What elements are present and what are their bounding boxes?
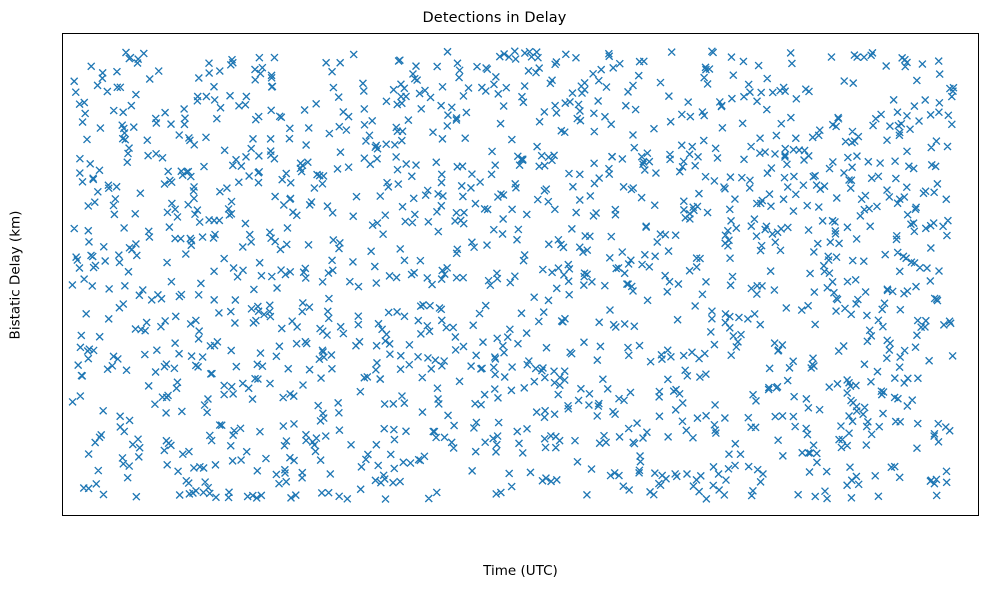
x-axis-tick bbox=[155, 515, 156, 516]
x-axis-tick bbox=[338, 515, 339, 516]
scatter-marker-path bbox=[69, 48, 957, 503]
y-axis-tick bbox=[62, 353, 63, 354]
scatter-points-layer bbox=[63, 34, 978, 515]
x-axis-tick bbox=[705, 515, 706, 516]
scatter-series bbox=[69, 48, 957, 503]
y-axis-tick bbox=[62, 428, 63, 429]
plot-area: 01020304050602025-02-23 14:59:002025-02-… bbox=[62, 33, 979, 516]
x-axis-label: Time (UTC) bbox=[62, 563, 979, 579]
y-axis-tick bbox=[62, 278, 63, 279]
y-axis-label: Bistatic Delay (km) bbox=[6, 33, 24, 516]
y-axis-tick bbox=[62, 203, 63, 204]
y-axis-label-text: Bistatic Delay (km) bbox=[7, 210, 23, 339]
x-axis-tick bbox=[522, 515, 523, 516]
x-axis-tick bbox=[888, 515, 889, 516]
page-title: Detections in Delay bbox=[0, 10, 989, 26]
y-axis-tick bbox=[62, 53, 63, 54]
y-axis-tick bbox=[62, 128, 63, 129]
scatter-plot-figure: Detections in Delay Bistatic Delay (km) … bbox=[0, 0, 989, 590]
y-axis-tick bbox=[62, 503, 63, 504]
